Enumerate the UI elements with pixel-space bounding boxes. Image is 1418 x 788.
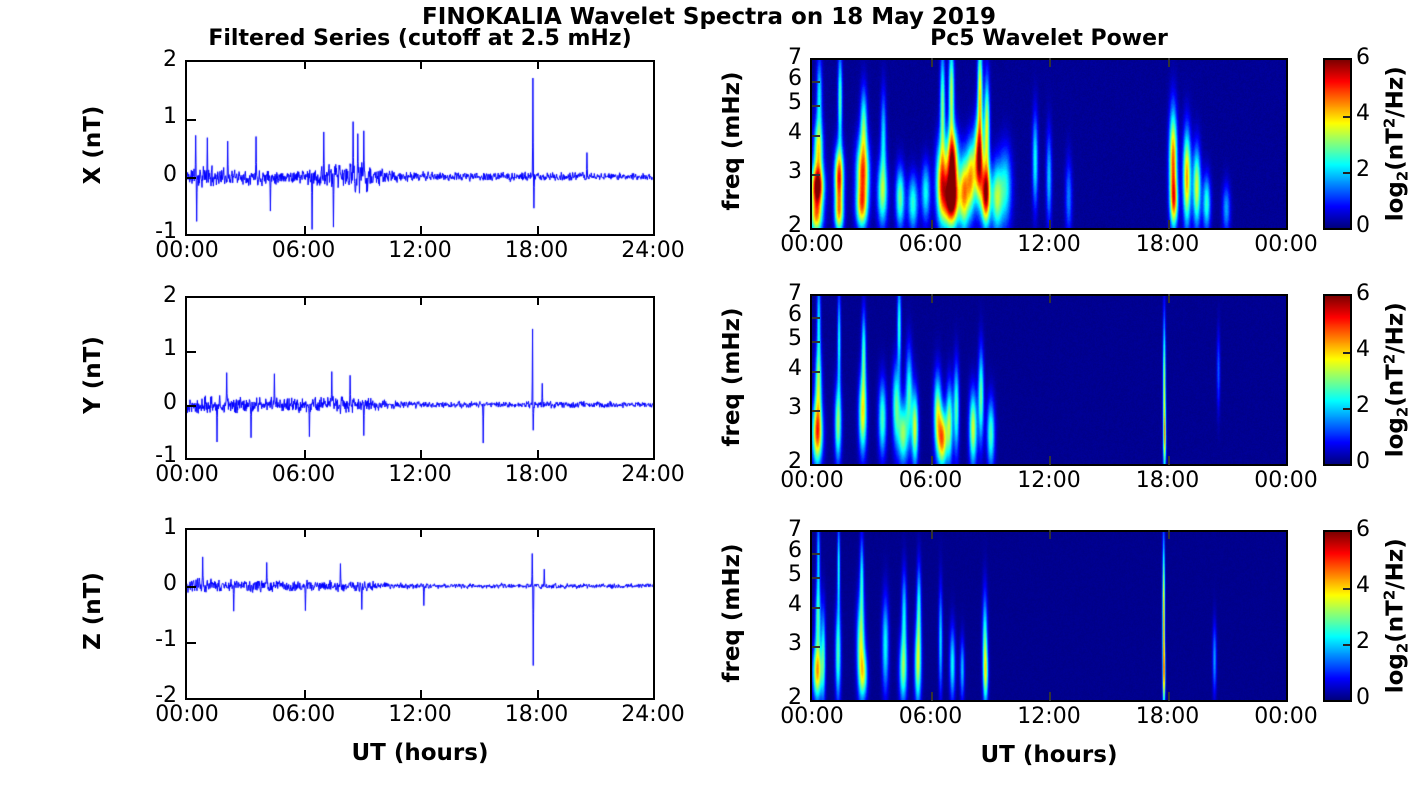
xtick-mark (931, 692, 933, 701)
xtick-label: 06:00 (869, 704, 993, 729)
colorbar-label: log2(nT2/Hz) (1380, 264, 1411, 496)
ytick-label: 5 (764, 326, 802, 351)
xtick-label: 12:00 (987, 468, 1111, 493)
xtick-mark (931, 220, 933, 229)
xtick-label: 06:00 (242, 702, 366, 727)
ytick-label: 3 (764, 159, 802, 184)
ylabel-z: Z (nT) (80, 525, 106, 697)
ytick-mark (187, 351, 196, 353)
xtick-mark-top (420, 60, 422, 69)
ytick-label: 6 (764, 302, 802, 327)
xtick-label: 06:00 (242, 462, 366, 487)
xtick-mark-top (537, 528, 539, 537)
xtick-label: 00:00 (125, 702, 249, 727)
colorbar-tick-label: 0 (1356, 449, 1370, 474)
xtick-mark-top (1049, 530, 1051, 539)
colorbar-tick-mark (1343, 588, 1350, 590)
colorbar-tick-mark (1343, 408, 1350, 410)
ytick-label: -1 (121, 627, 177, 652)
ytick-mark (187, 119, 196, 121)
xtick-mark-top (420, 296, 422, 305)
ytick-mark (812, 577, 820, 579)
timeseries-panel-y (185, 296, 655, 460)
colorbar-x (1323, 58, 1352, 230)
ytick-label: 3 (764, 395, 802, 420)
xtick-label: 00:00 (750, 232, 874, 257)
xtick-mark-top (1168, 530, 1170, 539)
spectrogram-panel-z (810, 530, 1288, 702)
colorbar-y (1323, 294, 1352, 466)
xtick-label: 18:00 (475, 702, 599, 727)
timeseries-trace-y (187, 298, 653, 458)
timeseries-trace-z (187, 530, 653, 698)
colorbar-tick-label: 2 (1356, 157, 1370, 182)
xtick-mark-top (1049, 294, 1051, 303)
xtick-label: 00:00 (125, 238, 249, 263)
spectrogram-panel-x (810, 58, 1288, 230)
xtick-mark-top (1049, 58, 1051, 67)
xtick-mark-top (537, 296, 539, 305)
xtick-mark-top (537, 60, 539, 69)
xtick-mark (537, 226, 539, 235)
ytick-label: 4 (764, 592, 802, 617)
xtick-mark (420, 450, 422, 459)
xlabel-left-column: UT (hours) (185, 740, 655, 766)
ytick-mark (812, 81, 820, 83)
ytick-label: 3 (764, 631, 802, 656)
colorbar-gradient (1325, 532, 1350, 700)
xtick-label: 24:00 (591, 462, 715, 487)
xtick-label: 18:00 (1106, 704, 1230, 729)
xtick-mark-top (931, 294, 933, 303)
xtick-mark (304, 226, 306, 235)
ytick-label: 2 (121, 47, 177, 72)
ytick-label: 2 (121, 283, 177, 308)
xtick-mark (1049, 220, 1051, 229)
xtick-label: 24:00 (591, 702, 715, 727)
ytick-label: 1 (121, 104, 177, 129)
ytick-label: 4 (764, 356, 802, 381)
colorbar-tick-label: 6 (1356, 45, 1370, 70)
xtick-label: 00:00 (750, 704, 874, 729)
ylabel-freq-z: freq (mHz) (719, 512, 745, 714)
xtick-label: 06:00 (869, 232, 993, 257)
xtick-mark (304, 690, 306, 699)
ytick-label: 0 (121, 390, 177, 415)
xlabel-right-column: UT (hours) (810, 742, 1288, 768)
ytick-mark (187, 586, 196, 588)
colorbar-tick-label: 2 (1356, 393, 1370, 418)
xtick-mark (304, 450, 306, 459)
xtick-label: 00:00 (750, 468, 874, 493)
ytick-label: 4 (764, 120, 802, 145)
xtick-mark-top (304, 296, 306, 305)
xtick-mark (420, 226, 422, 235)
right-column-title: Pc5 Wavelet Power (810, 26, 1288, 51)
ytick-mark (187, 177, 196, 179)
xtick-mark-top (931, 530, 933, 539)
xtick-label: 12:00 (358, 702, 482, 727)
xtick-label: 12:00 (358, 238, 482, 263)
ytick-label: 0 (121, 162, 177, 187)
xtick-label: 06:00 (242, 238, 366, 263)
xtick-label: 00:00 (1224, 232, 1348, 257)
timeseries-trace-x (187, 62, 653, 234)
xtick-label: 18:00 (1106, 468, 1230, 493)
ytick-mark (812, 646, 820, 648)
ytick-mark (187, 405, 196, 407)
colorbar-tick-mark (1343, 644, 1350, 646)
ytick-mark (812, 341, 820, 343)
colorbar-gradient (1325, 60, 1350, 228)
spectrogram-panel-y (810, 294, 1288, 466)
ytick-mark (187, 642, 196, 644)
xtick-label: 18:00 (475, 462, 599, 487)
ytick-mark (812, 607, 820, 609)
ytick-label: 5 (764, 562, 802, 587)
figure-canvas: FINOKALIA Wavelet Spectra on 18 May 2019… (0, 0, 1418, 788)
ytick-mark (812, 371, 820, 373)
colorbar-z (1323, 530, 1352, 702)
xtick-label: 00:00 (1224, 468, 1348, 493)
ytick-label: 5 (764, 90, 802, 115)
colorbar-tick-label: 4 (1356, 337, 1370, 362)
colorbar-gradient (1325, 296, 1350, 464)
xtick-mark (537, 690, 539, 699)
spectrogram-image-y (812, 296, 1286, 464)
colorbar-tick-label: 6 (1356, 517, 1370, 542)
ytick-label: 6 (764, 66, 802, 91)
xtick-mark-top (931, 58, 933, 67)
timeseries-panel-x (185, 60, 655, 236)
xtick-mark-top (1168, 294, 1170, 303)
ytick-mark (812, 135, 820, 137)
xtick-label: 18:00 (1106, 232, 1230, 257)
ytick-mark (812, 553, 820, 555)
ytick-mark (812, 105, 820, 107)
xtick-label: 24:00 (591, 238, 715, 263)
xtick-label: 12:00 (987, 232, 1111, 257)
xtick-label: 18:00 (475, 238, 599, 263)
colorbar-tick-label: 4 (1356, 101, 1370, 126)
xtick-mark (1049, 692, 1051, 701)
ytick-label: 6 (764, 538, 802, 563)
ytick-label: 0 (121, 571, 177, 596)
xtick-label: 00:00 (1224, 704, 1348, 729)
colorbar-tick-mark (1343, 172, 1350, 174)
ytick-label: 1 (121, 515, 177, 540)
colorbar-tick-label: 6 (1356, 281, 1370, 306)
colorbar-tick-mark (1343, 352, 1350, 354)
xtick-mark-top (1168, 58, 1170, 67)
colorbar-tick-label: 2 (1356, 629, 1370, 654)
timeseries-panel-z (185, 528, 655, 700)
xtick-label: 00:00 (125, 462, 249, 487)
xtick-mark (1168, 692, 1170, 701)
ytick-label: 1 (121, 336, 177, 361)
xtick-mark (537, 450, 539, 459)
ytick-mark (812, 410, 820, 412)
xtick-mark (1168, 220, 1170, 229)
xtick-mark (420, 690, 422, 699)
xtick-mark (931, 456, 933, 465)
spectrogram-image-x (812, 60, 1286, 228)
xtick-mark-top (420, 528, 422, 537)
colorbar-label: log2(nT2/Hz) (1380, 500, 1411, 732)
ylabel-freq-y: freq (mHz) (719, 276, 745, 478)
colorbar-tick-mark (1343, 116, 1350, 118)
ytick-mark (812, 174, 820, 176)
ytick-mark (812, 317, 820, 319)
xtick-label: 12:00 (358, 462, 482, 487)
ylabel-x: X (nT) (80, 57, 106, 233)
xtick-mark (1049, 456, 1051, 465)
colorbar-tick-label: 0 (1356, 213, 1370, 238)
ylabel-y: Y (nT) (80, 293, 106, 457)
xtick-mark-top (304, 528, 306, 537)
spectrogram-image-z (812, 532, 1286, 700)
left-column-title: Filtered Series (cutoff at 2.5 mHz) (185, 26, 655, 51)
xtick-label: 06:00 (869, 468, 993, 493)
colorbar-tick-label: 0 (1356, 685, 1370, 710)
xtick-mark (1168, 456, 1170, 465)
colorbar-label: log2(nT2/Hz) (1380, 28, 1411, 260)
colorbar-tick-label: 4 (1356, 573, 1370, 598)
xtick-label: 12:00 (987, 704, 1111, 729)
ylabel-freq-x: freq (mHz) (719, 40, 745, 242)
xtick-mark-top (304, 60, 306, 69)
